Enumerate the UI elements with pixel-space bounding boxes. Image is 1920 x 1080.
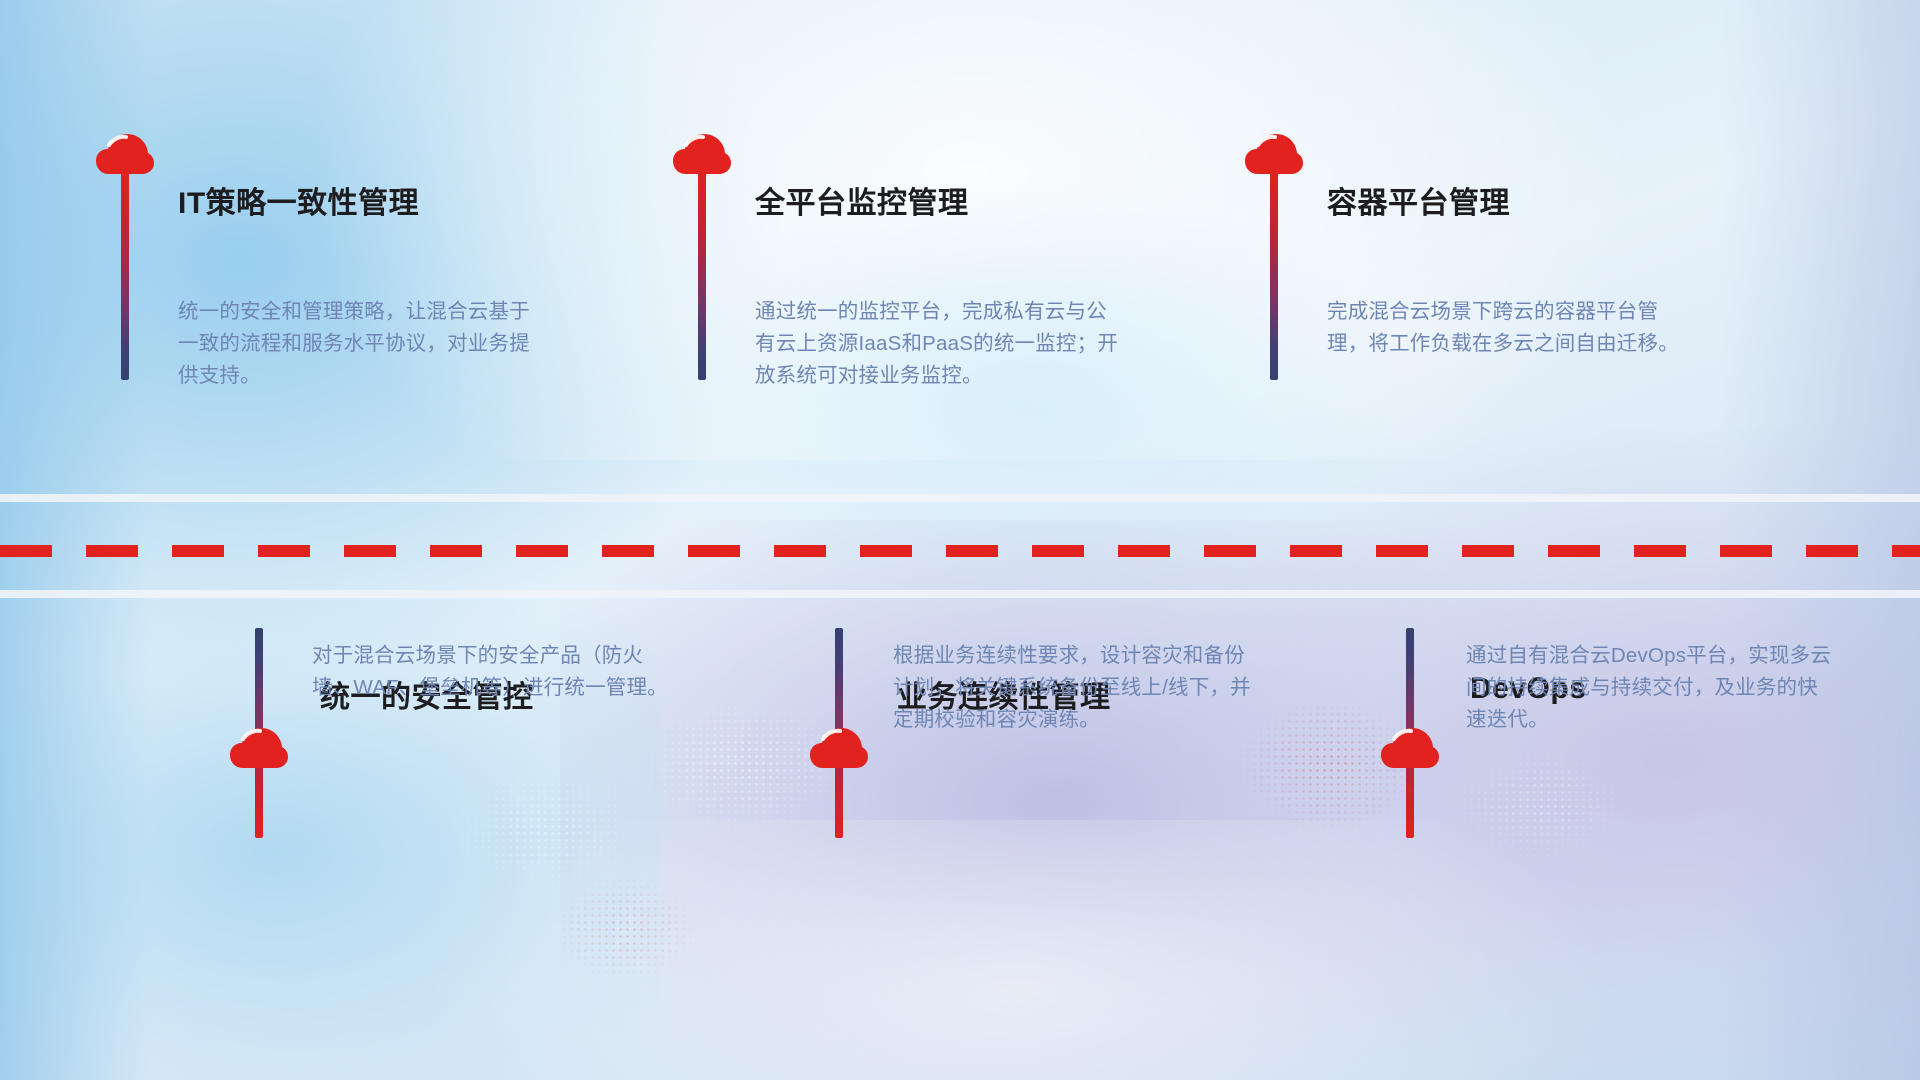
cloud-icon xyxy=(229,726,289,770)
feature-title: IT策略一致性管理 xyxy=(178,178,419,222)
background-edge-right xyxy=(1720,0,1920,1080)
feature-description: 统一的安全和管理策略，让混合云基于一致的流程和服务水平协议，对业务提供支持。 xyxy=(178,296,548,392)
divider-rule-bottom xyxy=(0,590,1920,598)
feature-title: 容器平台管理 xyxy=(1327,178,1510,222)
timeline-bar xyxy=(698,170,706,380)
feature-description: 通过自有混合云DevOps平台，实现多云间的持续集成与持续交付，及业务的快速迭代… xyxy=(1466,640,1836,736)
background-graphic xyxy=(0,0,1920,1080)
feature-description: 对于混合云场景下的安全产品（防火墙、WAF、堡垒机等）进行统一管理。 xyxy=(312,640,682,704)
timeline-bar xyxy=(1270,170,1278,380)
feature-description: 完成混合云场景下跨云的容器平台管理，将工作负载在多云之间自由迁移。 xyxy=(1327,296,1697,360)
decorative-dot-pattern-red xyxy=(540,870,710,990)
divider-rule-top xyxy=(0,494,1920,502)
cloud-icon xyxy=(809,726,869,770)
cloud-icon xyxy=(1380,726,1440,770)
feature-description: 根据业务连续性要求，设计容灾和备份计划，将关键系统备份至线上/线下，并定期校验和… xyxy=(893,640,1263,736)
feature-description: 通过统一的监控平台，完成私有云与公有云上资源IaaS和PaaS的统一监控；开放系… xyxy=(755,296,1125,392)
decorative-dot-pattern xyxy=(1440,740,1640,870)
timeline-bar xyxy=(121,170,129,380)
dashed-divider-icon xyxy=(0,545,1920,557)
feature-title: 全平台监控管理 xyxy=(755,178,969,222)
